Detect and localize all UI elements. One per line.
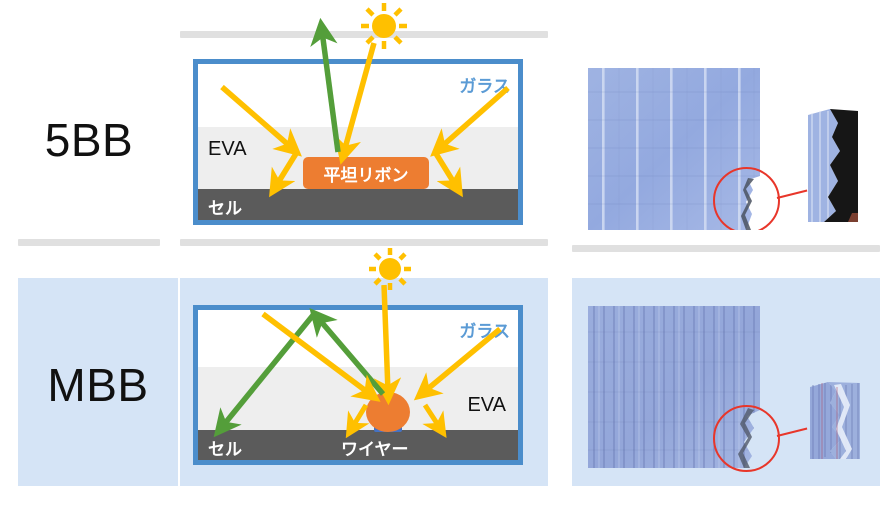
magnifier-circle-mbb [713, 405, 780, 472]
magnified-detail-mbb [810, 381, 860, 459]
label-eva-mbb: EVA [467, 394, 506, 417]
layer-cell-5bb [198, 189, 518, 220]
divider-top-diagram [180, 31, 548, 38]
row-label-mbb: MBB [18, 345, 178, 425]
wire-round-mbb [366, 392, 410, 432]
divider-mid-photo [572, 245, 880, 252]
magnifier-lead-5bb [777, 190, 808, 199]
label-glass-5bb: ガラス [459, 72, 510, 97]
ribbon-flat-5bb: 平坦リボン [303, 157, 429, 189]
divider-mid-label [18, 239, 160, 246]
figure-root: 5BB MBB ガラス EVA セル 平坦リボン [0, 0, 894, 513]
label-cell-5bb: セル [208, 194, 242, 219]
label-glass-mbb: ガラス [459, 317, 510, 342]
diagram-mbb-cross-section: ガラス EVA セル ワイヤー [193, 305, 523, 465]
label-eva-5bb: EVA [208, 138, 247, 161]
magnifier-lead-mbb [777, 428, 808, 437]
photo-panel-mbb [572, 278, 880, 486]
magnified-detail-5bb [808, 107, 858, 222]
diagram-5bb-cross-section: ガラス EVA セル 平坦リボン [193, 59, 523, 225]
label-wire-mbb: ワイヤー [341, 435, 409, 460]
divider-mid-diagram [180, 239, 548, 246]
photo-panel-5bb [572, 50, 880, 230]
ribbon-flat-5bb-text: 平坦リボン [324, 161, 409, 186]
row-label-5bb: 5BB [18, 100, 160, 180]
row-label-5bb-text: 5BB [45, 113, 133, 167]
label-cell-mbb: セル [208, 435, 242, 460]
row-label-mbb-text: MBB [47, 358, 148, 412]
sun-icon-5bb [361, 3, 407, 49]
magnifier-circle-5bb [713, 167, 780, 230]
